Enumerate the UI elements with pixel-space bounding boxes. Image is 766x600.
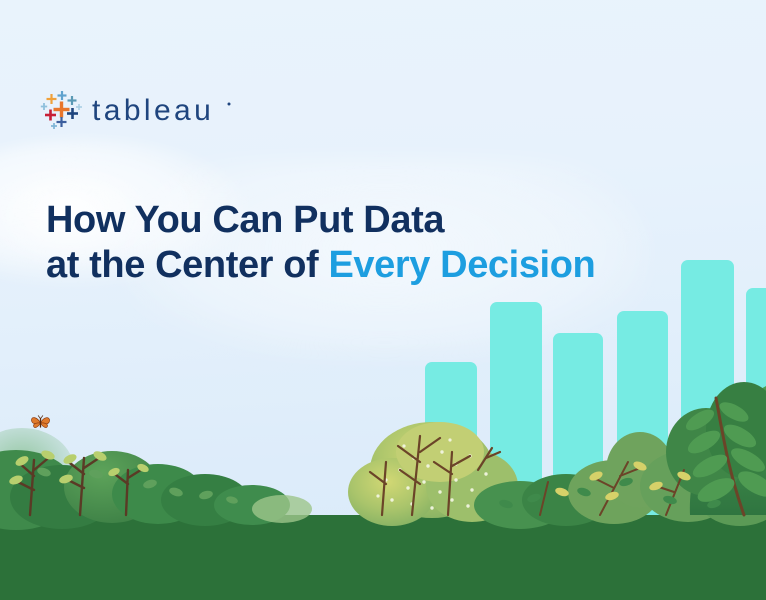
promo-banner: tableau How You Can Put Data at the Cent… xyxy=(0,0,766,600)
headline-accent: Every Decision xyxy=(328,244,595,286)
headline-line-2-prefix: at the Center of xyxy=(46,244,328,286)
tableau-wordmark: tableau xyxy=(92,90,242,130)
headline-line-2: at the Center of Every Decision xyxy=(46,243,595,288)
tableau-plus-marks-logo-icon xyxy=(40,88,84,132)
headline-line-1: How You Can Put Data xyxy=(46,198,595,243)
butterfly-icon xyxy=(28,410,54,436)
page-headline: How You Can Put Data at the Center of Ev… xyxy=(46,198,595,288)
dense-foliage-right xyxy=(474,382,766,529)
svg-text:tableau: tableau xyxy=(92,94,214,127)
tableau-logo[interactable]: tableau xyxy=(40,88,240,134)
leafy-bushes-left xyxy=(0,428,312,530)
